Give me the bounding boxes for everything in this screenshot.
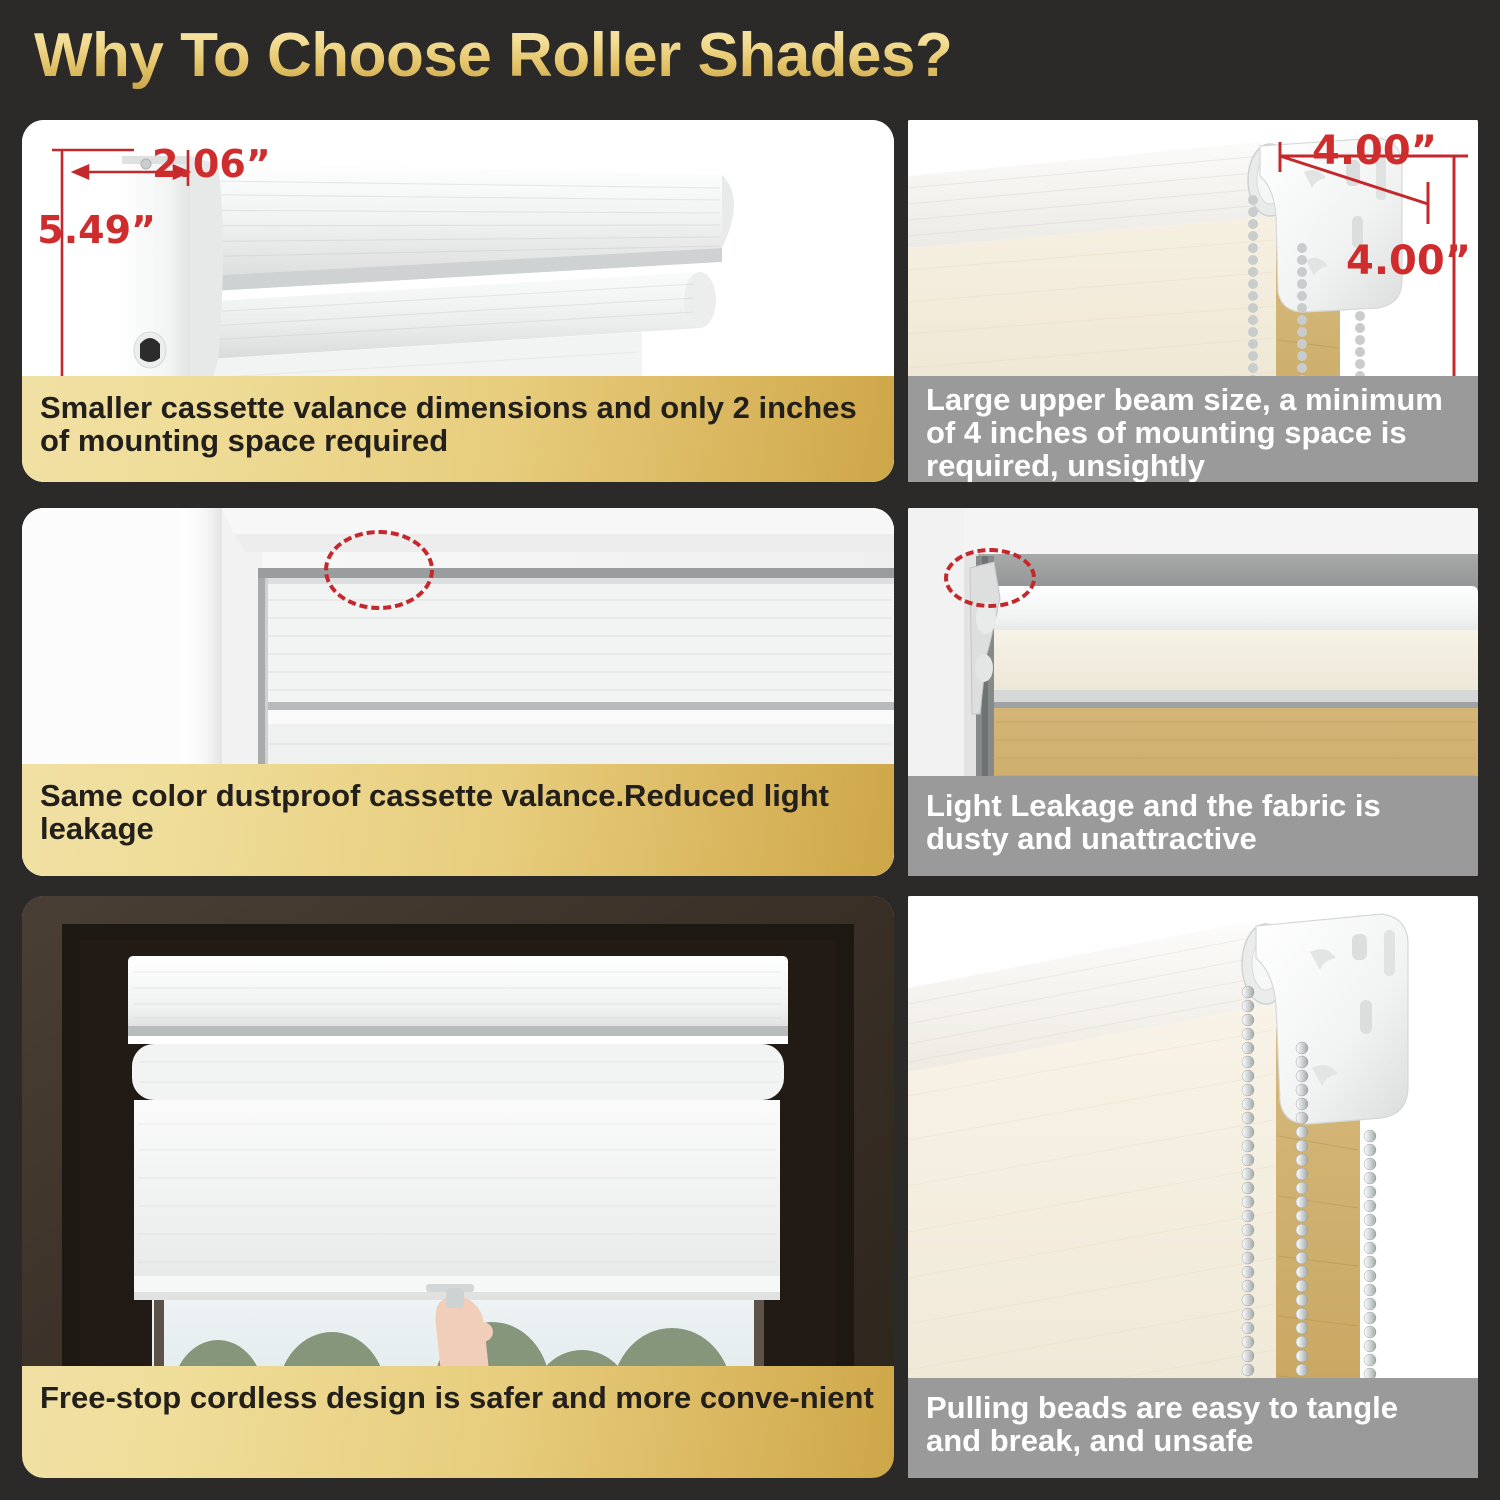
panel-top-left: 2.06” 5.49” Smaller cassette valance dim… xyxy=(22,120,894,482)
caption-bottom-right: Pulling beads are easy to tangle and bre… xyxy=(908,1378,1478,1478)
dimension-label-height: 5.49” xyxy=(22,208,156,252)
panel-bottom-left: Free-stop cordless design is safer and m… xyxy=(22,896,894,1478)
page-title: Why To Choose Roller Shades? xyxy=(34,20,952,91)
caption-mid-left: Same color dustproof cassette valance.Re… xyxy=(22,764,894,876)
caption-bottom-left: Free-stop cordless design is safer and m… xyxy=(22,1366,894,1478)
highlight-ellipse-top-seam xyxy=(324,530,434,610)
panel-top-right: 4.00” 4.00” Large upper beam size, a min… xyxy=(908,120,1478,482)
dimension-label-beam-height: 4.00” xyxy=(1346,238,1471,284)
infographic-root: Why To Choose Roller Shades? xyxy=(0,0,1500,1500)
panel-bottom-right: Pulling beads are easy to tangle and bre… xyxy=(908,896,1478,1478)
highlight-ellipse-large-gap xyxy=(944,548,1036,608)
panel-mid-right: Large gap Light Leakage and the fabric i… xyxy=(908,508,1478,876)
dimension-label-width: 2.06” xyxy=(152,142,271,186)
panel-mid-left: smaller gap Same color dustproof cassett… xyxy=(22,508,894,876)
dimension-label-beam-width: 4.00” xyxy=(1312,128,1437,174)
caption-top-left: Smaller cassette valance dimensions and … xyxy=(22,376,894,482)
caption-top-right: Large upper beam size, a minimum of 4 in… xyxy=(908,376,1478,482)
caption-mid-right: Light Leakage and the fabric is dusty an… xyxy=(908,776,1478,876)
